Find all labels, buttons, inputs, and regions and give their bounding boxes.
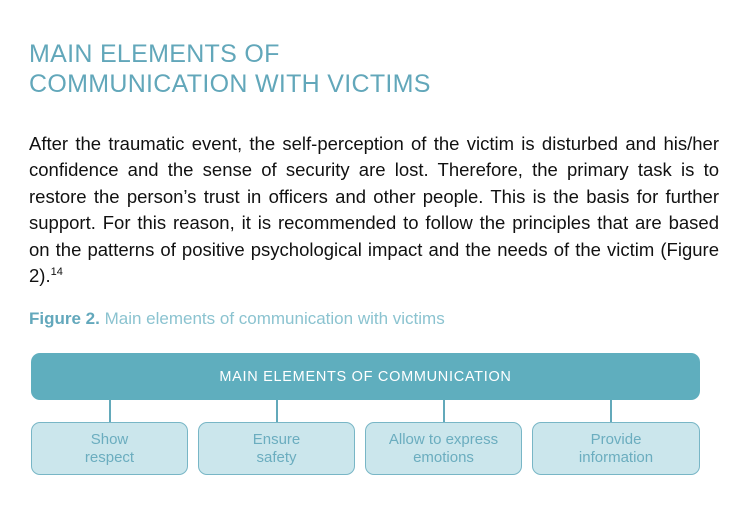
connector-line-2 — [276, 400, 278, 422]
diagram-root-label: MAIN ELEMENTS OF COMMUNICATION — [219, 369, 511, 385]
figure-caption-text: Main elements of communication with vict… — [105, 309, 445, 328]
figure-diagram: MAIN ELEMENTS OF COMMUNICATION Show resp… — [31, 353, 700, 475]
diagram-leaf-label-2: Ensure safety — [253, 431, 301, 467]
page-title: MAIN ELEMENTS OF COMMUNICATION WITH VICT… — [29, 39, 629, 99]
diagram-root-box: MAIN ELEMENTS OF COMMUNICATION — [31, 353, 700, 400]
connector-line-3 — [443, 400, 445, 422]
connector-line-4 — [610, 400, 612, 422]
connector-line-1 — [109, 400, 111, 422]
diagram-leaf-label-3: Allow to express emotions — [389, 431, 498, 467]
diagram-leaf-label-1: Show respect — [85, 431, 134, 467]
diagram-leaf-box-2: Ensure safety — [198, 422, 355, 475]
body-paragraph-text: After the traumatic event, the self-perc… — [29, 133, 719, 287]
figure-caption: Figure 2. Main elements of communication… — [29, 308, 445, 330]
diagram-connectors — [31, 400, 700, 422]
reference-superscript: 14 — [51, 266, 63, 278]
document-page: MAIN ELEMENTS OF COMMUNICATION WITH VICT… — [0, 0, 749, 515]
body-paragraph: After the traumatic event, the self-perc… — [29, 131, 719, 290]
figure-caption-label: Figure 2. — [29, 309, 100, 328]
diagram-leaf-box-1: Show respect — [31, 422, 188, 475]
diagram-leaf-box-3: Allow to express emotions — [365, 422, 522, 475]
diagram-leaf-label-4: Provide information — [579, 431, 653, 467]
diagram-leaf-row: Show respect Ensure safety Allow to expr… — [31, 422, 700, 475]
diagram-leaf-box-4: Provide information — [532, 422, 700, 475]
